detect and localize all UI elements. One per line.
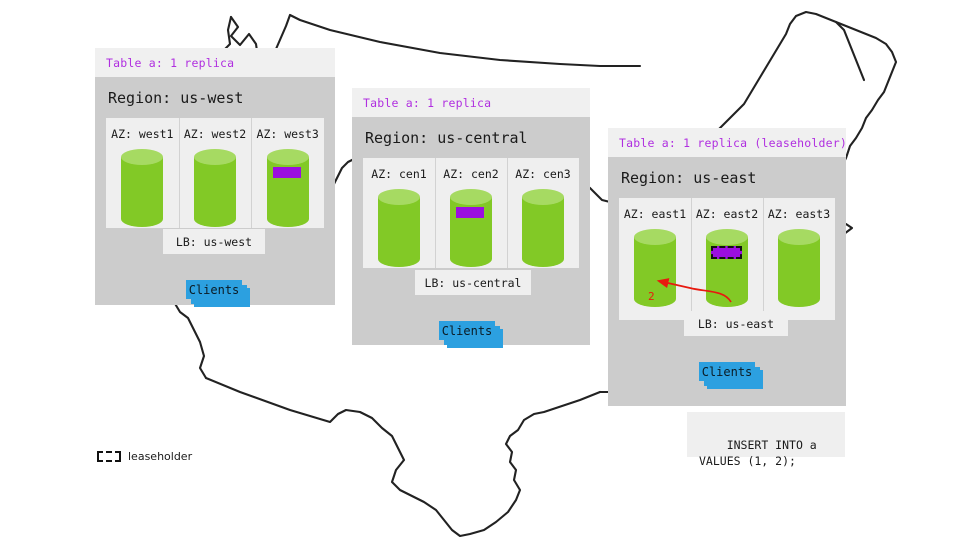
cylinder-body [194,157,236,219]
region-panel-us-east: Table a: 1 replica (leaseholder) Region:… [608,128,846,406]
lb-label-us-west: LB: us-west [176,235,252,249]
az-label-cen3: AZ: cen3 [515,167,570,181]
table-replica-strip-east: Table a: 1 replica (leaseholder) [608,128,846,157]
cylinder-top [378,189,420,205]
load-balancer-us-east[interactable]: LB: us-east [684,311,788,336]
az-cell-west3[interactable]: AZ: west3 [251,118,324,228]
az-cell-cen1[interactable]: AZ: cen1 [363,158,435,268]
leaseholder-swatch-icon [97,451,121,462]
cylinder-top [778,229,820,245]
az-strip-us-central: AZ: cen1 AZ: cen2 [363,158,579,268]
az-cell-east3[interactable]: AZ: east3 [763,198,835,320]
az-label-cen1: AZ: cen1 [371,167,426,181]
az-cell-east2[interactable]: AZ: east2 [691,198,763,320]
table-replica-strip-central: Table a: 1 replica [352,88,590,117]
cylinder-body [778,237,820,299]
table-replica-note-east: Table a: 1 replica (leaseholder) [619,136,835,150]
clients-stack-us-east[interactable]: Clients [699,362,763,389]
cylinder-body [522,197,564,259]
cylinder-top [194,149,236,165]
node-cylinder-west1[interactable] [121,149,163,216]
clients-stack-us-central[interactable]: Clients [439,321,503,348]
legend-leaseholder: leaseholder [97,450,192,463]
az-cell-east1[interactable]: AZ: east1 [619,198,691,320]
node-cylinder-cen1[interactable] [378,189,420,256]
az-label-east1: AZ: east1 [624,207,686,221]
az-label-cen2: AZ: cen2 [443,167,498,181]
sql-statement-text: INSERT INTO a VALUES (1, 2); [699,438,817,468]
cylinder-top [522,189,564,205]
lb-label-us-central: LB: us-central [425,276,522,290]
az-strip-us-west: AZ: west1 AZ: west2 AZ [106,118,324,228]
table-replica-note-central: Table a: 1 replica [363,96,579,110]
region-panel-us-central: Table a: 1 replica Region: us-central AZ… [352,88,590,345]
diagram-canvas: Table a: 1 replica Region: us-west AZ: w… [0,0,960,540]
region-title-us-west: Region: us-west [106,77,324,118]
region-panel-us-west: Table a: 1 replica Region: us-west AZ: w… [95,48,335,305]
az-cell-west1[interactable]: AZ: west1 [106,118,179,228]
replica-block-west3[interactable] [273,167,301,178]
region-body-us-west: Region: us-west AZ: west1 AZ: west2 [95,77,335,305]
node-cylinder-cen3[interactable] [522,189,564,256]
cylinder-body [634,237,676,299]
az-label-east2: AZ: east2 [696,207,758,221]
az-label-west1: AZ: west1 [111,127,173,141]
az-label-east3: AZ: east3 [768,207,830,221]
table-replica-strip-west: Table a: 1 replica [95,48,335,77]
cylinder-top [634,229,676,245]
node-cylinder-west3[interactable] [267,149,309,216]
table-replica-note-west: Table a: 1 replica [106,56,324,70]
cylinder-top [706,229,748,245]
load-balancer-us-central[interactable]: LB: us-central [415,270,531,295]
az-cell-cen3[interactable]: AZ: cen3 [507,158,579,268]
node-cylinder-east1[interactable] [634,229,676,301]
az-cell-west2[interactable]: AZ: west2 [179,118,252,228]
node-cylinder-west2[interactable] [194,149,236,216]
replica-block-cen2[interactable] [456,207,484,218]
clients-front-us-east[interactable]: Clients [699,362,755,381]
node-cylinder-east2[interactable] [706,229,748,301]
annotation-step-2: 2 [648,290,655,303]
az-label-west2: AZ: west2 [184,127,246,141]
region-title-us-east: Region: us-east [619,157,835,198]
az-label-west3: AZ: west3 [257,127,319,141]
region-body-us-central: Region: us-central AZ: cen1 AZ: cen2 [352,117,590,345]
cylinder-body [121,157,163,219]
cylinder-top [450,189,492,205]
region-title-us-central: Region: us-central [363,117,579,158]
clients-front-us-west[interactable]: Clients [186,280,242,299]
clients-front-us-central[interactable]: Clients [439,321,495,340]
sql-statement-box[interactable]: INSERT INTO a VALUES (1, 2); [687,412,845,457]
node-cylinder-east3[interactable] [778,229,820,301]
clients-stack-us-west[interactable]: Clients [186,280,250,307]
replica-block-east2-leaseholder[interactable] [711,246,742,259]
az-cell-cen2[interactable]: AZ: cen2 [435,158,507,268]
load-balancer-us-west[interactable]: LB: us-west [163,229,265,254]
legend-label: leaseholder [128,450,192,463]
node-cylinder-cen2[interactable] [450,189,492,256]
lb-label-us-east: LB: us-east [698,317,774,331]
cylinder-body [378,197,420,259]
cylinder-top [267,149,309,165]
